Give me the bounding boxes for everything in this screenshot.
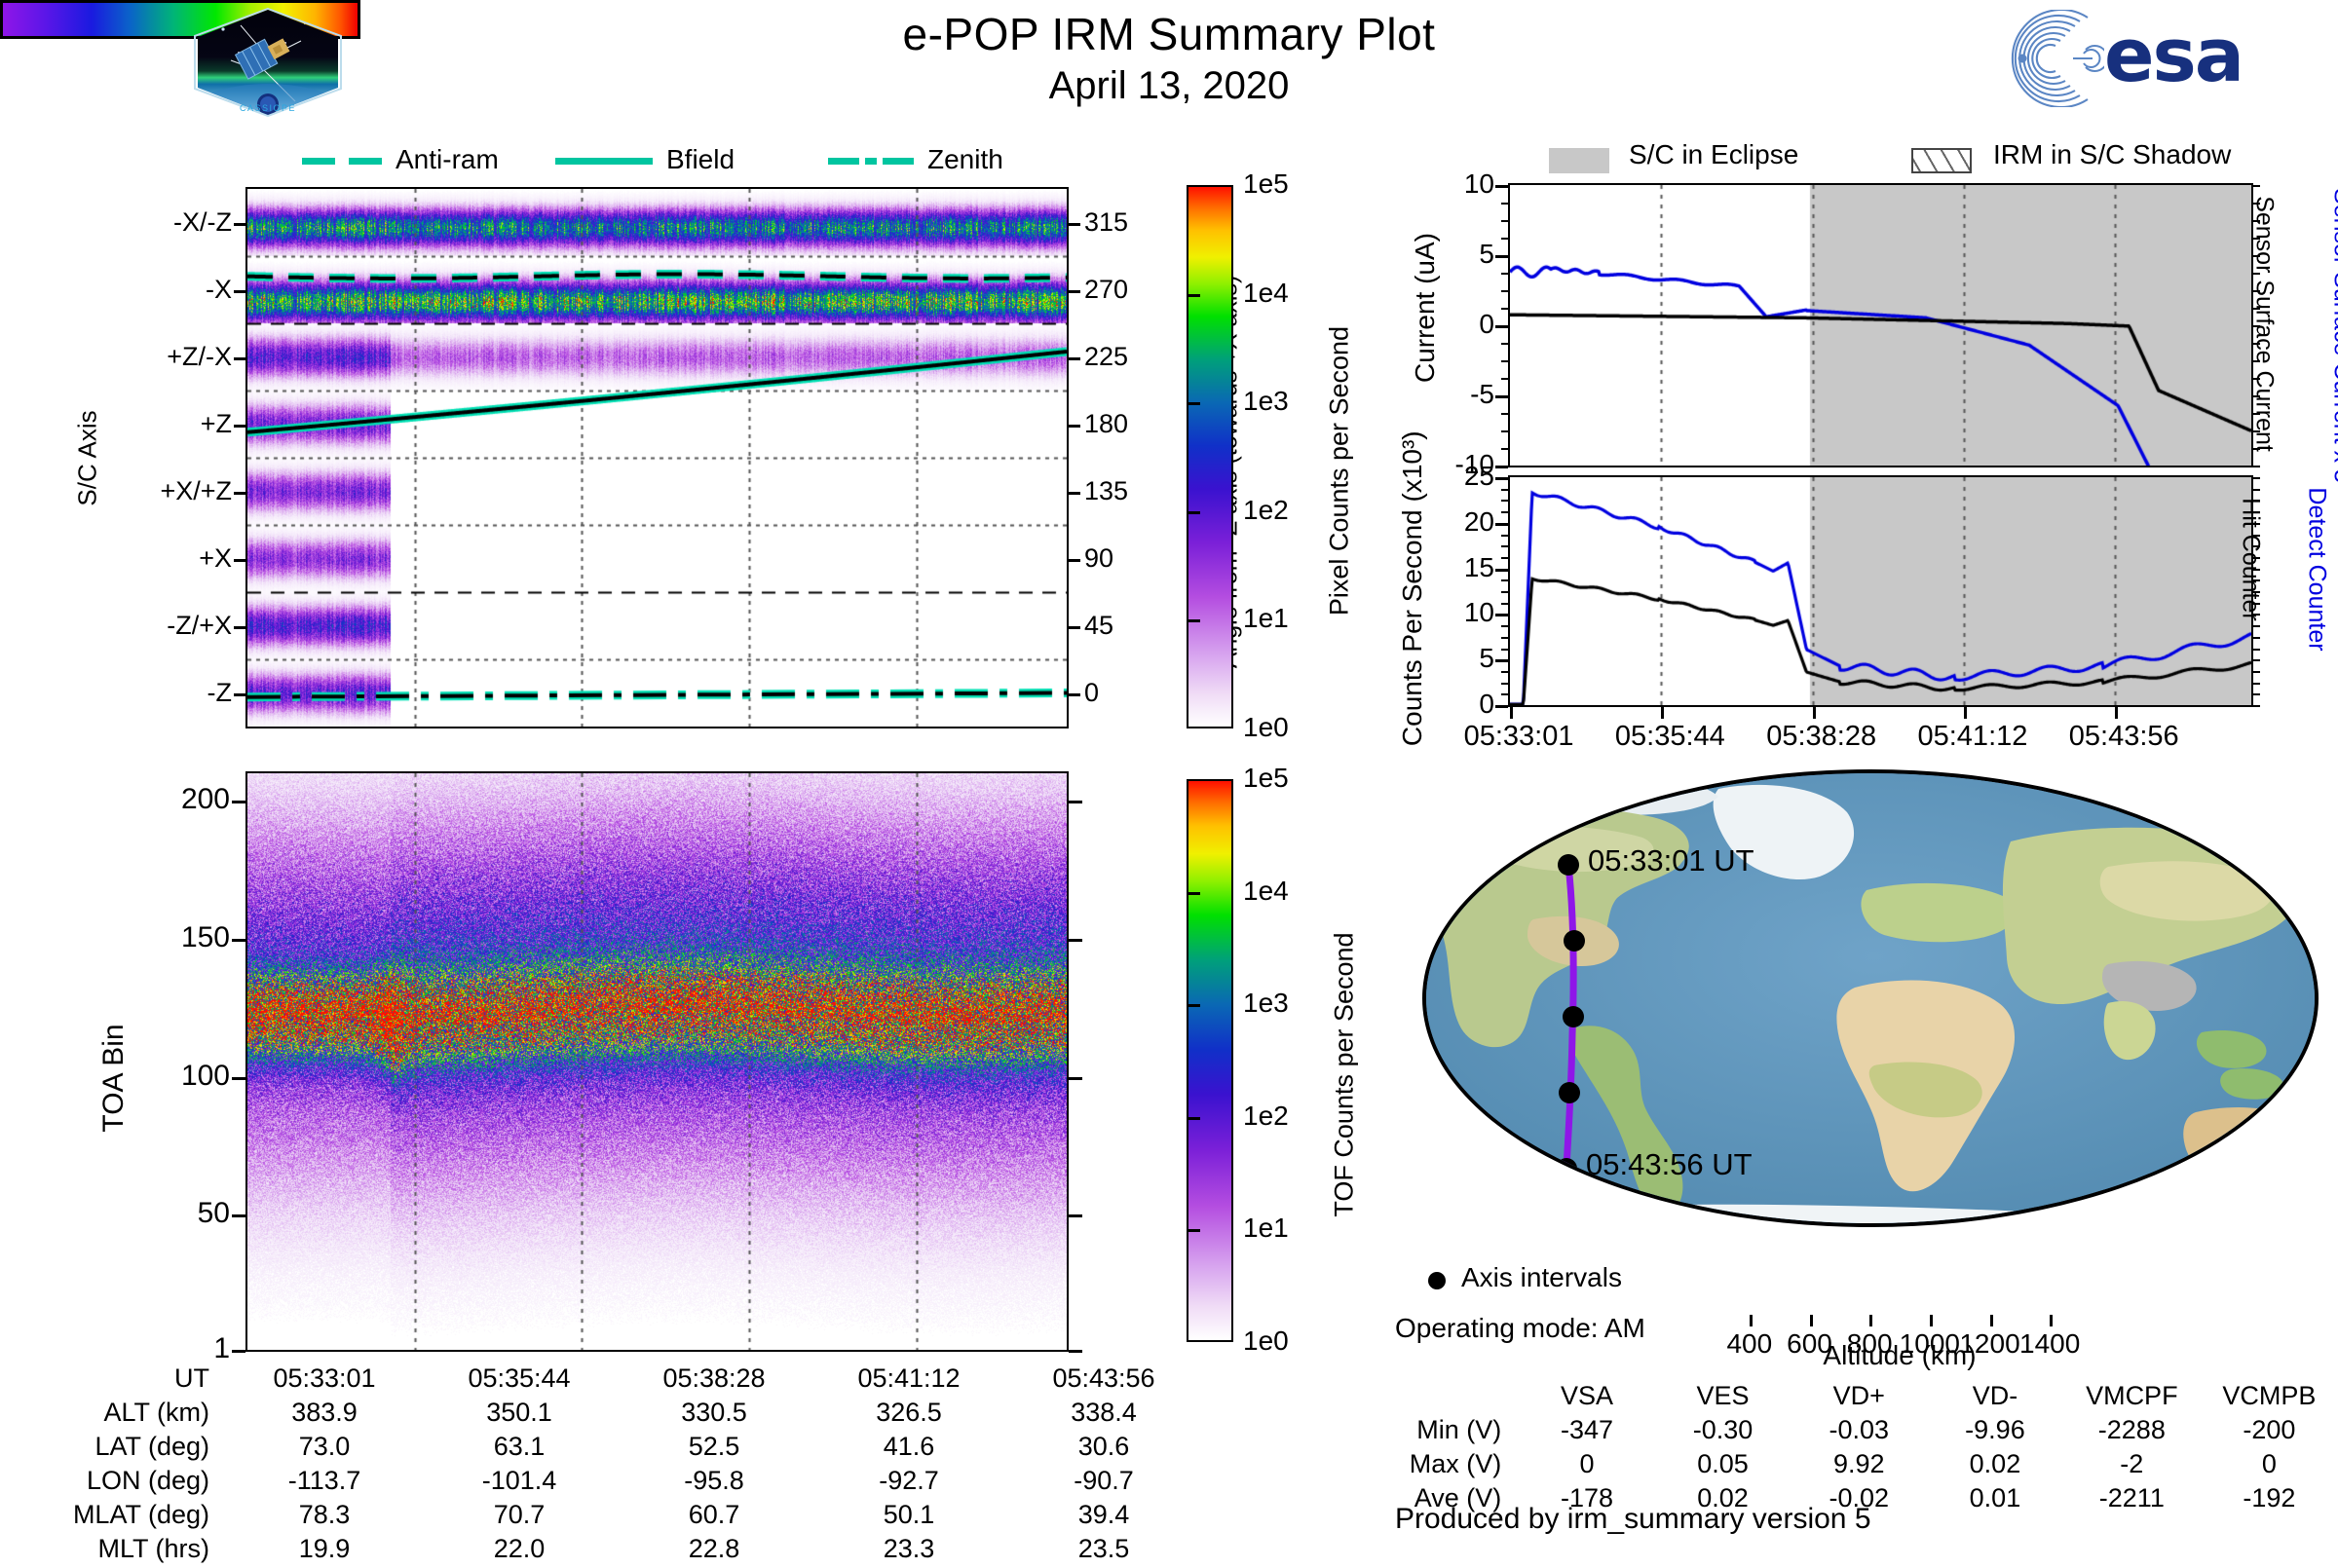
current-ytick-2: 0 [1479, 309, 1494, 340]
xtick-label-0: 05:33:01 [1464, 721, 1574, 753]
ephemeris-cell: -95.8 [617, 1466, 811, 1500]
tof-colorbar-tick-4 [1187, 892, 1200, 895]
ephemeris-row-label: MLAT (deg) [39, 1500, 227, 1534]
counts-ytick-3: 10 [1464, 597, 1494, 628]
voltage-cell: -2211 [2063, 1483, 2201, 1517]
counts-ylabel: Counts Per Second (x10³) [1397, 454, 1428, 746]
current-minor-tick-14 [1501, 430, 1508, 432]
sc-axis-tick-left-0 [234, 223, 245, 226]
sc-axis-ytick-right-6: 45 [1084, 611, 1113, 641]
ephemeris-cell: -90.7 [1006, 1466, 1201, 1500]
sc-axis-ytick-right-1: 270 [1084, 275, 1128, 305]
sc-axis-ylabel: S/C Axis [73, 366, 103, 551]
voltage-cell: -2288 [2063, 1415, 2201, 1449]
sc-axis-ytick-right-7: 0 [1084, 678, 1099, 708]
sc-axis-ytick-left-5: +X [199, 543, 232, 574]
toa-ytick-0: 1 [213, 1332, 230, 1365]
xtick-mark-3 [1964, 707, 1967, 719]
ephemeris-cell: 73.0 [227, 1432, 422, 1466]
altitude-colorbar-label: Altitude (km) [1719, 1340, 2080, 1371]
toa-bin-spectrogram-panel[interactable] [245, 771, 1069, 1352]
voltage-cell: 9.92 [1791, 1449, 1927, 1483]
pixel-colorbar-label-1: 1e1 [1243, 603, 1289, 634]
sc-axis-ytick-left-0: -X/-Z [173, 207, 232, 238]
zenith-legend-dash-b [883, 158, 914, 165]
counts-minor-tick-12 [1501, 614, 1508, 616]
legend-label-bfield: Bfield [666, 144, 735, 175]
current-minor-tick-13 [1501, 413, 1508, 415]
pixel-colorbar-label-5: 1e5 [1243, 168, 1289, 200]
ephemeris-row-label: MLT (hrs) [39, 1534, 227, 1568]
altitude-tick-0 [1750, 1315, 1753, 1326]
altitude-tick-3 [1930, 1315, 1933, 1326]
pixel-colorbar-tick-1 [1187, 619, 1200, 622]
counts-minor-tick-r-20 [2253, 705, 2260, 707]
voltage-cell: 0 [2201, 1449, 2338, 1483]
toa-tick-3 [232, 939, 245, 942]
altitude-tick-2 [1869, 1315, 1872, 1326]
toa-bin-ylabel: TOA Bin [97, 986, 131, 1171]
ephemeris-cell: 23.3 [811, 1534, 1006, 1568]
current-minor-tick-15 [1501, 448, 1508, 450]
counts-minor-tick-7 [1501, 557, 1508, 559]
current-minor-tick-8 [1501, 325, 1508, 327]
ephemeris-cell: 23.5 [1006, 1534, 1201, 1568]
counts-ytick-5: 0 [1479, 689, 1494, 720]
ephemeris-cell: 63.1 [422, 1432, 617, 1466]
ephemeris-cell: 50.1 [811, 1500, 1006, 1534]
toa-tick-right-3 [1069, 939, 1082, 942]
counts-minor-tick-2 [1501, 500, 1508, 502]
zenith-legend-dot [865, 158, 877, 165]
ephemeris-row-label: LAT (deg) [39, 1432, 227, 1466]
legend-label-zenith: Zenith [927, 144, 1003, 175]
counts-minor-tick-10 [1501, 591, 1508, 593]
counts-minor-tick-20 [1501, 705, 1508, 707]
toa-ytick-4: 200 [181, 783, 230, 816]
pixel-colorbar-tick-4 [1187, 294, 1200, 297]
current-ytick-1: 5 [1479, 239, 1494, 270]
xtick-label-3: 05:41:12 [1917, 721, 2027, 753]
operating-mode-label: Operating mode: AM [1395, 1313, 1645, 1344]
tof-colorbar-label-0: 1e0 [1243, 1325, 1289, 1357]
current-ytick-0: 10 [1464, 168, 1494, 200]
counts-minor-tick-8 [1501, 569, 1508, 571]
map-globe-oval: 05:33:01 UT 05:43:56 UT [1422, 769, 2319, 1227]
bfield-legend-line [555, 158, 653, 165]
counts-minor-tick-1 [1501, 489, 1508, 491]
sc-axis-tick-left-6 [234, 626, 245, 629]
pixel-colorbar-label-0: 1e0 [1243, 712, 1289, 743]
tof-colorbar-tick-1 [1187, 1229, 1200, 1232]
current-minor-tick-6 [1501, 290, 1508, 292]
voltage-column-header: VSA [1519, 1381, 1654, 1415]
voltage-corner-cell [1393, 1381, 1519, 1415]
ephemeris-cell: 30.6 [1006, 1432, 1201, 1466]
sc-axis-tick-right-0 [1069, 223, 1080, 226]
ephemeris-row: LAT (deg)73.063.152.541.630.6 [39, 1432, 1201, 1466]
counts-black-series-label: Hit Counter [2237, 433, 2265, 687]
tof-colorbar-label-4: 1e4 [1243, 876, 1289, 907]
ephemeris-cell: 383.9 [227, 1398, 422, 1432]
tof-colorbar-tick-3 [1187, 1004, 1200, 1007]
sc-axis-ytick-left-1: -X [206, 275, 232, 305]
voltage-cell: -200 [2201, 1415, 2338, 1449]
voltage-column-header: VD- [1927, 1381, 2063, 1415]
toa-tick-right-4 [1069, 801, 1082, 803]
ephemeris-row-label: UT [39, 1363, 227, 1398]
voltage-cell: 0.01 [1927, 1483, 2063, 1517]
ephemeris-row: UT05:33:0105:35:4405:38:2805:41:1205:43:… [39, 1363, 1201, 1398]
ephemeris-cell: 05:43:56 [1006, 1363, 1201, 1398]
sc-axis-tick-left-2 [234, 357, 245, 360]
ephemeris-cell: 22.8 [617, 1534, 811, 1568]
counts-minor-tick-6 [1501, 545, 1508, 547]
counts-minor-tick-5 [1501, 535, 1508, 537]
counts-minor-tick-15 [1501, 649, 1508, 651]
counts-minor-tick-13 [1501, 625, 1508, 627]
tof-colorbar-label-1: 1e1 [1243, 1213, 1289, 1244]
current-panel[interactable] [1508, 183, 2253, 467]
eclipse-legend: S/C in Eclipse IRM in S/C Shadow [1549, 142, 2328, 181]
sc-axis-tick-right-5 [1069, 559, 1080, 562]
counts-ytick-2: 15 [1464, 552, 1494, 583]
ephemeris-cell: -101.4 [422, 1466, 617, 1500]
xtick-mark-2 [1813, 707, 1816, 719]
sc-axis-ytick-left-7: -Z [207, 678, 232, 708]
counts-minor-tick-11 [1501, 603, 1508, 605]
voltage-cell: 0.02 [1927, 1449, 2063, 1483]
tof-colorbar-label-3: 1e3 [1243, 988, 1289, 1019]
shadow-hatch-icon [1911, 148, 1972, 173]
toa-ytick-1: 50 [198, 1197, 230, 1230]
ephemeris-cell: 05:38:28 [617, 1363, 811, 1398]
counts-ytick-1: 20 [1464, 506, 1494, 538]
pixel-colorbar-tick-2 [1187, 511, 1200, 514]
xtick-mark-4 [2115, 707, 2118, 719]
xtick-label-2: 05:38:28 [1766, 721, 1876, 753]
ephemeris-cell: 350.1 [422, 1398, 617, 1432]
sc-axis-tick-right-2 [1069, 357, 1080, 360]
counts-panel[interactable] [1508, 475, 2253, 707]
sc-axis-ytick-left-4: +X/+Z [160, 476, 232, 506]
sc-axis-ytick-left-3: +Z [201, 409, 232, 439]
xtick-mark-1 [1661, 707, 1664, 719]
altitude-tick-4 [1990, 1315, 1993, 1326]
ground-track-map[interactable]: 05:33:01 UT 05:43:56 UT [1422, 769, 2319, 1227]
axis-intervals-legend-label: Axis intervals [1461, 1262, 1622, 1293]
sc-axis-tick-right-1 [1069, 290, 1080, 293]
ephemeris-table: UT05:33:0105:35:4405:38:2805:41:1205:43:… [39, 1363, 1201, 1568]
ephemeris-cell: 52.5 [617, 1432, 811, 1466]
counts-minor-tick-4 [1501, 523, 1508, 525]
ephemeris-cell: 330.5 [617, 1398, 811, 1432]
voltage-cell: -9.96 [1927, 1415, 2063, 1449]
ephemeris-row-label: ALT (km) [39, 1398, 227, 1432]
axis-intervals-marker-icon [1428, 1272, 1446, 1289]
toa-tick-0 [232, 1350, 245, 1353]
current-minor-tick-12 [1501, 395, 1508, 397]
sc-axis-ytick-left-6: -Z/+X [167, 611, 232, 641]
toa-tick-2 [232, 1077, 245, 1080]
current-minor-tick-10 [1501, 360, 1508, 362]
current-ylabel: Current (uA) [1410, 181, 1441, 434]
counts-minor-tick-14 [1501, 637, 1508, 639]
voltage-column-header: VES [1655, 1381, 1791, 1415]
voltage-column-header: VD+ [1791, 1381, 1927, 1415]
xtick-label-4: 05:43:56 [2069, 721, 2179, 753]
voltage-cell: -0.30 [1655, 1415, 1791, 1449]
pixel-counts-colorbar-label: Pixel Counts per Second [1325, 199, 1355, 744]
ephemeris-cell: 05:35:44 [422, 1363, 617, 1398]
ephemeris-row: MLT (hrs)19.922.022.823.323.5 [39, 1534, 1201, 1568]
current-minor-tick-3 [1501, 238, 1508, 240]
zenith-legend-dash-a [828, 158, 859, 165]
pixel-colorbar-label-2: 1e2 [1243, 495, 1289, 526]
tof-colorbar-label-5: 1e5 [1243, 763, 1289, 794]
toa-tick-right-0 [1069, 1350, 1082, 1353]
current-minor-tick-0 [1501, 185, 1508, 187]
current-minor-tick-9 [1501, 343, 1508, 345]
altitude-tick-5 [2050, 1315, 2053, 1326]
ephemeris-cell: 60.7 [617, 1500, 811, 1534]
voltage-cell: -347 [1519, 1415, 1654, 1449]
sc-axis-tick-left-1 [234, 290, 245, 293]
esa-wordmark: esa [2104, 12, 2243, 98]
voltage-cell: -2 [2063, 1449, 2201, 1483]
ephemeris-row: ALT (km)383.9350.1330.5326.5338.4 [39, 1398, 1201, 1432]
toa-tick-1 [232, 1214, 245, 1217]
toa-tick-right-1 [1069, 1214, 1082, 1217]
ephemeris-cell: -113.7 [227, 1466, 422, 1500]
sc-axis-spectrogram-panel[interactable] [245, 187, 1069, 728]
counts-minor-tick-0 [1501, 477, 1508, 479]
ephemeris-cell: 70.7 [422, 1500, 617, 1534]
sc-axis-tick-right-3 [1069, 425, 1080, 428]
ephemeris-cell: 338.4 [1006, 1398, 1201, 1432]
ephemeris-cell: 78.3 [227, 1500, 422, 1534]
esa-logo: esa [1987, 10, 2309, 107]
pixel-colorbar-label-3: 1e3 [1243, 386, 1289, 417]
counts-ytick-0: 25 [1464, 461, 1494, 492]
tof-colorbar-label-2: 1e2 [1243, 1101, 1289, 1132]
current-minor-tick-7 [1501, 308, 1508, 310]
current-minor-tick-4 [1501, 255, 1508, 257]
anti-ram-legend-dash-b [349, 158, 382, 165]
voltage-row: Min (V)-347-0.30-0.03-9.96-2288-200 [1393, 1415, 2338, 1449]
map-end-time-label: 05:43:56 UT [1586, 1147, 1753, 1182]
sc-axis-ytick-right-5: 90 [1084, 543, 1113, 574]
voltage-column-header: VMCPF [2063, 1381, 2201, 1415]
ephemeris-cell: 22.0 [422, 1534, 617, 1568]
voltage-header-row: VSAVESVD+VD-VMCPFVCMPB [1393, 1381, 2338, 1415]
current-minor-tick-16 [1501, 466, 1508, 467]
sc-axis-tick-left-7 [234, 693, 245, 696]
toa-tick-4 [232, 801, 245, 803]
voltage-cell: 0.05 [1655, 1449, 1791, 1483]
voltage-cell: -192 [2201, 1483, 2338, 1517]
current-minor-tick-11 [1501, 378, 1508, 380]
counts-minor-tick-3 [1501, 511, 1508, 513]
spectrogram-legend: Anti-ram Bfield Zenith [253, 144, 994, 183]
toa-ytick-3: 150 [181, 921, 230, 954]
voltage-row-label: Min (V) [1393, 1415, 1519, 1449]
map-start-time-label: 05:33:01 UT [1588, 843, 1754, 878]
altitude-tick-1 [1810, 1315, 1813, 1326]
voltage-table: VSAVESVD+VD-VMCPFVCMPBMin (V)-347-0.30-0… [1393, 1381, 2338, 1517]
counts-ytick-4: 5 [1479, 643, 1494, 674]
tof-counts-colorbar-label: TOF Counts per Second [1330, 803, 1360, 1348]
toa-ytick-2: 100 [181, 1060, 230, 1093]
sc-axis-ytick-left-2: +Z/-X [167, 342, 232, 372]
ephemeris-row: MLAT (deg)78.370.760.750.139.4 [39, 1500, 1201, 1534]
counts-blue-series-label: Detect Counter [2303, 424, 2331, 716]
sc-axis-tick-right-6 [1069, 626, 1080, 629]
ephemeris-cell: 05:33:01 [227, 1363, 422, 1398]
sc-axis-ytick-right-2: 225 [1084, 342, 1128, 372]
ephemeris-cell: 326.5 [811, 1398, 1006, 1432]
ephemeris-cell: -92.7 [811, 1466, 1006, 1500]
ephemeris-cell: 41.6 [811, 1432, 1006, 1466]
current-minor-tick-1 [1501, 203, 1508, 205]
legend-label-anti-ram: Anti-ram [396, 144, 499, 175]
xtick-mark-0 [1510, 707, 1513, 719]
voltage-cell: -0.03 [1791, 1415, 1927, 1449]
counts-minor-tick-18 [1501, 683, 1508, 685]
sc-axis-ytick-right-0: 315 [1084, 207, 1128, 238]
current-minor-tick-5 [1501, 273, 1508, 275]
sc-axis-ytick-right-4: 135 [1084, 476, 1128, 506]
voltage-row-label: Max (V) [1393, 1449, 1519, 1483]
voltage-row: Max (V)00.059.920.02-20 [1393, 1449, 2338, 1483]
sc-axis-tick-right-7 [1069, 693, 1080, 696]
ephemeris-row: LON (deg)-113.7-101.4-95.8-92.7-90.7 [39, 1466, 1201, 1500]
sc-axis-tick-left-3 [234, 425, 245, 428]
anti-ram-legend-dash-a [302, 158, 335, 165]
ephemeris-cell: 05:41:12 [811, 1363, 1006, 1398]
counts-minor-tick-r-19 [2253, 693, 2260, 695]
counts-minor-tick-19 [1501, 693, 1508, 695]
tof-counts-colorbar [1187, 779, 1233, 1342]
tof-colorbar-tick-2 [1187, 1117, 1200, 1120]
pixel-colorbar-tick-3 [1187, 402, 1200, 405]
sc-axis-tick-left-4 [234, 492, 245, 495]
ephemeris-cell: 39.4 [1006, 1500, 1201, 1534]
toa-tick-right-2 [1069, 1077, 1082, 1080]
footer-produced-by: Produced by irm_summary version 5 [1395, 1503, 1871, 1536]
ephemeris-row-label: LON (deg) [39, 1466, 227, 1500]
current-minor-tick-2 [1501, 220, 1508, 222]
voltage-cell: 0 [1519, 1449, 1654, 1483]
current-ytick-3: -5 [1470, 379, 1494, 410]
counts-minor-tick-9 [1501, 579, 1508, 581]
counts-minor-tick-16 [1501, 659, 1508, 661]
eclipse-swatch-icon [1549, 148, 1609, 173]
ephemeris-cell: 19.9 [227, 1534, 422, 1568]
pixel-counts-colorbar [1187, 185, 1233, 728]
xtick-label-1: 05:35:44 [1615, 721, 1725, 753]
counts-minor-tick-17 [1501, 671, 1508, 673]
sc-axis-ytick-right-3: 180 [1084, 409, 1128, 439]
legend-label-shadow: IRM in S/C Shadow [1993, 139, 2231, 170]
sc-axis-tick-left-5 [234, 559, 245, 562]
legend-label-eclipse: S/C in Eclipse [1629, 139, 1798, 170]
voltage-column-header: VCMPB [2201, 1381, 2338, 1415]
sc-axis-tick-right-4 [1069, 492, 1080, 495]
cassiope-mission-badge-icon: CASSIOPE [180, 8, 356, 117]
svg-text:CASSIOPE: CASSIOPE [240, 103, 296, 113]
pixel-colorbar-label-4: 1e4 [1243, 278, 1289, 309]
